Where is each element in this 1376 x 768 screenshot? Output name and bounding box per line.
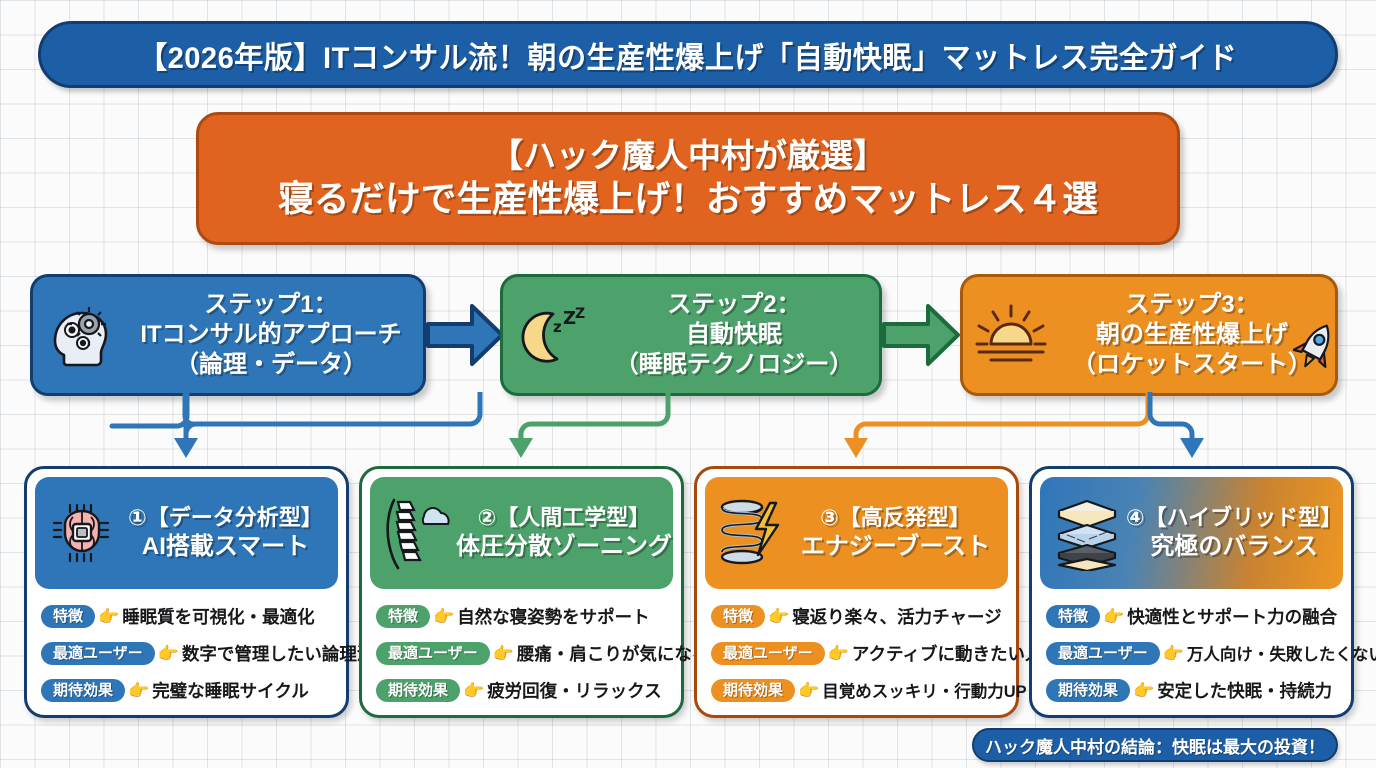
arrow-step1-to-step2 bbox=[426, 300, 504, 370]
step-box-2[interactable]: z Z Z ステップ2： 自動快眠 （睡眠テクノロジー） bbox=[500, 274, 882, 396]
pointing-hand-icon: 👉 bbox=[493, 645, 514, 662]
row-label-pill: 期待効果 bbox=[1046, 679, 1130, 702]
product-card-1[interactable]: ①【データ分析型】 AI搭載スマート 特徴 👉 睡眠質を可視化・最適化 最適ユー… bbox=[24, 466, 349, 718]
brain-chip-icon bbox=[43, 497, 121, 569]
step-3-line-1: ステップ3： bbox=[1125, 290, 1258, 320]
row-value-text: アクティブに動きたい人 bbox=[852, 641, 1043, 666]
row-value-text: 数字で管理したい論理派 bbox=[182, 641, 375, 666]
headline-line-2: 寝るだけで生産性爆上げ！おすすめマットレス４選 bbox=[278, 177, 1098, 221]
row-label-pill: 期待効果 bbox=[376, 679, 460, 702]
product-card-2[interactable]: ②【人間工学型】 体圧分散ゾーニング 特徴 👉 自然な寝姿勢をサポート 最適ユー… bbox=[359, 466, 684, 718]
product-card-4[interactable]: ④【ハイブリッド型】 究極のバランス 特徴 👉 快適性とサポート力の融合 最適ユ… bbox=[1029, 466, 1354, 718]
pointing-hand-icon: 👉 bbox=[1103, 608, 1124, 625]
product-card-2-title-line-1: ②【人間工学型】 bbox=[478, 504, 651, 532]
row-label-pill: 特徴 bbox=[376, 605, 430, 628]
product-card-2-rows: 特徴 👉 自然な寝姿勢をサポート 最適ユーザー 👉 腰痛・肩こりが気になる人 期… bbox=[370, 589, 673, 707]
sleeping-moon-icon: z Z Z bbox=[503, 277, 599, 393]
step-2-text: ステップ2： 自動快眠 （睡眠テクノロジー） bbox=[599, 290, 879, 379]
row-value-text: 自然な寝姿勢をサポート bbox=[457, 604, 650, 629]
rocket-icon bbox=[1293, 320, 1339, 377]
spring-bolt-icon bbox=[713, 495, 791, 571]
product-card-1-rows: 特徴 👉 睡眠質を可視化・最適化 最適ユーザー 👉 数字で管理したい論理派 期待… bbox=[35, 589, 338, 707]
svg-text:Z: Z bbox=[575, 306, 585, 322]
step-2-line-2: 自動快眠 bbox=[686, 320, 782, 350]
card-row: 最適ユーザー 👉 数字で管理したい論理派 bbox=[41, 636, 334, 670]
row-label-pill: 特徴 bbox=[711, 605, 765, 628]
pointing-hand-icon: 👉 bbox=[1163, 645, 1184, 662]
page-title-banner: 【2026年版】ITコンサル流！朝の生産性爆上げ「自動快眠」マットレス完全ガイド bbox=[38, 21, 1338, 88]
product-card-2-title: ②【人間工学型】 体圧分散ゾーニング bbox=[456, 504, 672, 562]
product-card-2-title-line-2: 体圧分散ゾーニング bbox=[456, 532, 672, 562]
pointing-hand-icon: 👉 bbox=[98, 608, 119, 625]
headline-banner: 【ハック魔人中村が厳選】 寝るだけで生産性爆上げ！おすすめマットレス４選 bbox=[196, 112, 1180, 245]
product-card-2-header: ②【人間工学型】 体圧分散ゾーニング bbox=[370, 477, 673, 589]
product-card-4-rows: 特徴 👉 快適性とサポート力の融合 最適ユーザー 👉 万人向け・失敗したくない人… bbox=[1040, 589, 1343, 707]
card-row: 期待効果 👉 安定した快眠・持続力 bbox=[1046, 673, 1339, 707]
product-card-1-title-line-2: AI搭載スマート bbox=[142, 532, 309, 562]
product-card-3-rows: 特徴 👉 寝返り楽々、活力チャージ 最適ユーザー 👉 アクティブに動きたい人 期… bbox=[705, 589, 1008, 707]
sunrise-icon bbox=[963, 277, 1059, 393]
step-1-text: ステップ1： ITコンサル的アプローチ （論理・データ） bbox=[129, 290, 423, 379]
step-3-text: ステップ3： 朝の生産性爆上げ （ロケットスタート） bbox=[1059, 290, 1335, 379]
product-card-3-title-line-1: ③【高反発型】 bbox=[820, 504, 971, 532]
pointing-hand-icon: 👉 bbox=[828, 645, 849, 662]
row-value-text: 安定した快眠・持続力 bbox=[1157, 678, 1332, 703]
card-row: 特徴 👉 寝返り楽々、活力チャージ bbox=[711, 599, 1004, 633]
product-card-4-title-line-2: 究極のバランス bbox=[1150, 532, 1318, 562]
product-card-4-header: ④【ハイブリッド型】 究極のバランス bbox=[1040, 477, 1343, 589]
footer-conclusion-text: ハック魔人中村の結論：快眠は最大の投資！ bbox=[985, 733, 1325, 758]
footer-conclusion-badge: ハック魔人中村の結論：快眠は最大の投資！ bbox=[972, 728, 1338, 762]
pointing-hand-icon: 👉 bbox=[433, 608, 454, 625]
row-label-pill: 特徴 bbox=[1046, 605, 1100, 628]
row-value-text: 快適性とサポート力の融合 bbox=[1127, 604, 1337, 629]
step-3-line-3: （ロケットスタート） bbox=[1072, 350, 1312, 380]
step-box-1[interactable]: ステップ1： ITコンサル的アプローチ （論理・データ） bbox=[30, 274, 426, 396]
row-label-pill: 期待効果 bbox=[711, 679, 795, 702]
step-1-line-3: （論理・データ） bbox=[175, 350, 367, 380]
card-row: 最適ユーザー 👉 万人向け・失敗したくない人 bbox=[1046, 636, 1339, 670]
spine-cloud-icon bbox=[378, 494, 456, 572]
product-card-3-header: ③【高反発型】 エナジーブースト bbox=[705, 477, 1008, 589]
card-row: 期待効果 👉 疲労回復・リラックス bbox=[376, 673, 669, 707]
row-label-pill: 最適ユーザー bbox=[376, 642, 490, 665]
product-card-3-title: ③【高反発型】 エナジーブースト bbox=[791, 504, 1000, 562]
card-row: 特徴 👉 睡眠質を可視化・最適化 bbox=[41, 599, 334, 633]
card-row: 特徴 👉 自然な寝姿勢をサポート bbox=[376, 599, 669, 633]
step-2-line-3: （睡眠テクノロジー） bbox=[615, 350, 854, 380]
card-row: 特徴 👉 快適性とサポート力の融合 bbox=[1046, 599, 1339, 633]
product-card-1-header: ①【データ分析型】 AI搭載スマート bbox=[35, 477, 338, 589]
row-value-text: 睡眠質を可視化・最適化 bbox=[122, 604, 315, 629]
row-label-pill: 最適ユーザー bbox=[1046, 642, 1160, 665]
row-value-text: 完璧な睡眠サイクル bbox=[152, 678, 309, 703]
pointing-hand-icon: 👉 bbox=[1133, 682, 1154, 699]
card-row: 最適ユーザー 👉 腰痛・肩こりが気になる人 bbox=[376, 636, 669, 670]
row-value-text: 疲労回復・リラックス bbox=[487, 678, 661, 703]
pointing-hand-icon: 👉 bbox=[128, 682, 149, 699]
connector-lines bbox=[0, 392, 1376, 470]
arrow-step2-to-step3 bbox=[882, 300, 960, 370]
pointing-hand-icon: 👉 bbox=[463, 682, 484, 699]
product-card-1-title: ①【データ分析型】 AI搭載スマート bbox=[121, 504, 330, 562]
product-card-4-title-line-1: ④【ハイブリッド型】 bbox=[1126, 504, 1342, 532]
step-2-line-1: ステップ2： bbox=[667, 290, 800, 320]
row-label-pill: 特徴 bbox=[41, 605, 95, 628]
card-row: 最適ユーザー 👉 アクティブに動きたい人 bbox=[711, 636, 1004, 670]
row-value-text: 万人向け・失敗したくない人 bbox=[1187, 641, 1376, 665]
infographic-canvas: 【2026年版】ITコンサル流！朝の生産性爆上げ「自動快眠」マットレス完全ガイド… bbox=[0, 0, 1376, 768]
row-value-text: 目覚めスッキリ・行動力UP bbox=[822, 678, 1026, 702]
card-row: 期待効果 👉 目覚めスッキリ・行動力UP bbox=[711, 673, 1004, 707]
row-label-pill: 最適ユーザー bbox=[711, 642, 825, 665]
pointing-hand-icon: 👉 bbox=[798, 682, 819, 699]
step-3-line-2: 朝の生産性爆上げ bbox=[1096, 320, 1288, 350]
product-card-4-title: ④【ハイブリッド型】 究極のバランス bbox=[1126, 504, 1342, 562]
layered-mattress-icon bbox=[1048, 495, 1126, 571]
svg-text:z: z bbox=[553, 318, 562, 336]
step-1-line-2: ITコンサル的アプローチ bbox=[140, 320, 401, 350]
product-card-3[interactable]: ③【高反発型】 エナジーブースト 特徴 👉 寝返り楽々、活力チャージ 最適ユーザ… bbox=[694, 466, 1019, 718]
card-row: 期待効果 👉 完璧な睡眠サイクル bbox=[41, 673, 334, 707]
page-title-text: 【2026年版】ITコンサル流！朝の生産性爆上げ「自動快眠」マットレス完全ガイド bbox=[138, 33, 1237, 77]
row-value-text: 寝返り楽々、活力チャージ bbox=[792, 604, 1001, 629]
step-1-line-1: ステップ1： bbox=[204, 290, 337, 320]
pointing-hand-icon: 👉 bbox=[158, 645, 179, 662]
product-card-3-title-line-2: エナジーブースト bbox=[801, 532, 990, 562]
product-card-1-title-line-1: ①【データ分析型】 bbox=[128, 504, 323, 532]
row-label-pill: 期待効果 bbox=[41, 679, 125, 702]
headline-line-1: 【ハック魔人中村が厳選】 bbox=[490, 136, 886, 176]
pointing-hand-icon: 👉 bbox=[768, 608, 789, 625]
head-with-gears-icon bbox=[33, 277, 129, 393]
row-label-pill: 最適ユーザー bbox=[41, 642, 155, 665]
step-box-3[interactable]: ステップ3： 朝の生産性爆上げ （ロケットスタート） bbox=[960, 274, 1338, 396]
